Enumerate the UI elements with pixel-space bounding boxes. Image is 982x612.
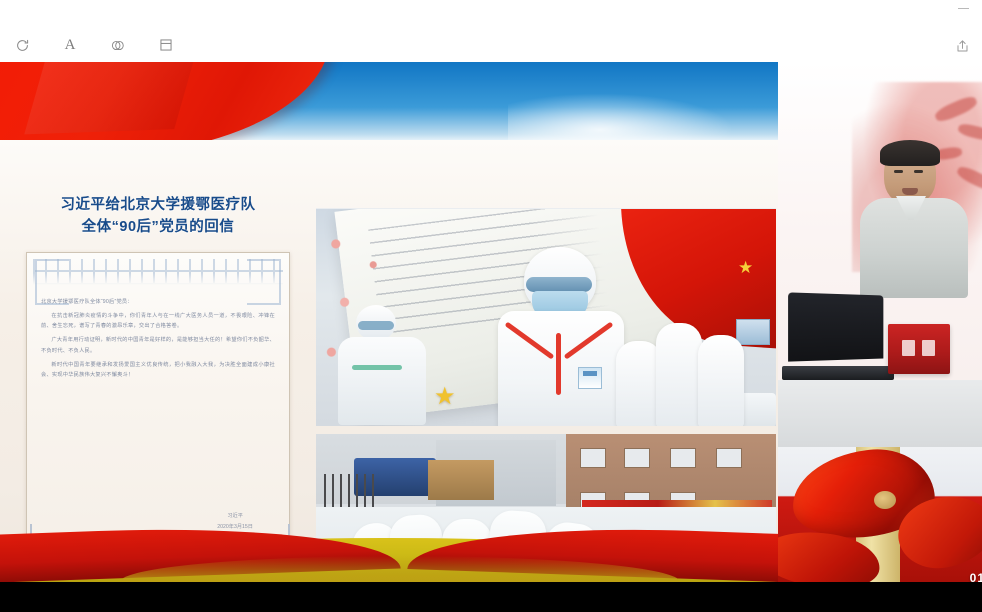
medic-strap <box>556 333 561 395</box>
speaker-video-panel[interactable]: 01 <box>778 62 982 582</box>
desk-surface <box>778 380 982 447</box>
slide-ribbon-decoration <box>0 524 778 582</box>
video-player-window: A <box>0 0 982 612</box>
photo-medic-group <box>616 301 766 426</box>
slide-title-line2: 全体“90后”党员的回信 <box>14 216 302 238</box>
medic-id-badge <box>578 367 602 389</box>
slide-banner <box>0 62 778 144</box>
medic-green-strap <box>352 365 402 370</box>
text-size-icon[interactable]: A <box>58 33 82 57</box>
video-stage[interactable]: 习近平给北京大学援鄂医疗队 全体“90后”党员的回信 北京大学援鄂医疗队全体“9… <box>0 62 982 582</box>
medic-figure <box>656 323 702 426</box>
letter-paragraph-3: 新时代中国青年要继承和发扬爱国主义优良传统，把小我融入大我，为决胜全面建成小康社… <box>41 360 275 380</box>
letter-salutation: 北京大学援鄂医疗队全体“90后”党员： <box>41 297 275 307</box>
toolbar-button-group: A <box>10 33 178 57</box>
speaker-eye-right <box>914 170 923 173</box>
letter-border-pattern <box>33 259 283 285</box>
bottom-bar <box>0 582 982 612</box>
layout-icon[interactable] <box>154 33 178 57</box>
laptop <box>782 294 888 380</box>
slide-photo-top: ★ ★ <box>316 208 776 426</box>
refresh-icon[interactable] <box>10 33 34 57</box>
monitor-screen <box>736 319 770 345</box>
cloud-decoration <box>508 92 738 144</box>
medic-goggles <box>526 277 592 292</box>
letter-text: 北京大学援鄂医疗队全体“90后”党员： 在抗击新冠肺炎疫情的斗争中，你们青年人与… <box>41 297 275 384</box>
red-flag-graphic <box>0 62 330 144</box>
speaker-person <box>866 144 962 294</box>
signature-name: 习近平 <box>217 511 253 522</box>
speaker-eye-left <box>894 170 903 173</box>
text-size-label: A <box>65 38 76 53</box>
link-icon[interactable] <box>106 33 130 57</box>
flag-fold <box>24 62 206 134</box>
laptop-keyboard <box>782 366 894 380</box>
slide-title-line1: 习近平给北京大学援鄂医疗队 <box>14 194 302 216</box>
laptop-screen <box>788 292 883 361</box>
speaker-hair <box>880 140 940 166</box>
slide-title: 习近平给北京大学援鄂医疗队 全体“90后”党员的回信 <box>14 194 302 239</box>
photo-medic-center <box>494 247 626 426</box>
letter-paragraph-2: 广大青年用行动证明，新时代的中国青年是好样的，是能够担当大任的！希望你们不负韶华… <box>41 335 275 355</box>
gold-star-icon: ★ <box>434 385 456 409</box>
photo-medic-left <box>338 305 428 425</box>
speaker-camera-feed[interactable] <box>778 62 982 447</box>
medic-visor <box>358 321 394 330</box>
speaker-lower-graphic: 01 <box>778 447 982 582</box>
top-toolbar: A <box>0 0 982 62</box>
page-marker: 01 <box>970 571 982 582</box>
minimize-icon[interactable] <box>958 8 969 9</box>
speaker-mouth <box>902 188 918 195</box>
share-icon[interactable] <box>950 34 974 58</box>
presentation-slide: 习近平给北京大学援鄂医疗队 全体“90后”党员的回信 北京大学援鄂医疗队全体“9… <box>0 62 778 582</box>
letter-paragraph-1: 在抗击新冠肺炎疫情的斗争中，你们青年人与在一线广大医务人员一道，不畏艰险、冲锋在… <box>41 311 275 331</box>
medic-figure <box>698 335 744 426</box>
medic-suit <box>338 337 426 425</box>
gold-knot <box>874 491 896 509</box>
nameplate <box>888 324 950 374</box>
